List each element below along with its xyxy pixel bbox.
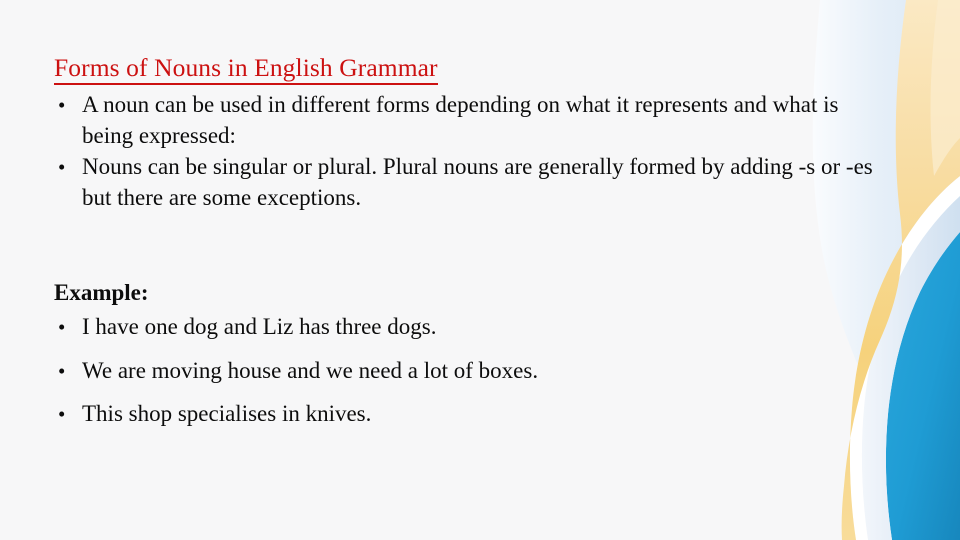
list-item: • A noun can be used in different forms … <box>52 90 882 151</box>
slide-content: Forms of Nouns in English Grammar • A no… <box>0 0 960 540</box>
page-title-text: Forms of Nouns in English Grammar <box>54 53 438 85</box>
list-item-text: A noun can be used in different forms de… <box>82 90 882 151</box>
list-item: • We are moving house and we need a lot … <box>52 356 882 387</box>
list-item: • This shop specialises in knives. <box>52 399 882 430</box>
bullet-dot-icon: • <box>58 399 72 430</box>
page-title: Forms of Nouns in English Grammar <box>54 53 754 83</box>
list-item: • I have one dog and Liz has three dogs. <box>52 312 882 343</box>
example-heading: Example: <box>54 279 149 307</box>
list-item-text: I have one dog and Liz has three dogs. <box>82 312 882 343</box>
forms-bullet-list: • A noun can be used in different forms … <box>52 90 882 214</box>
slide-canvas: Forms of Nouns in English Grammar • A no… <box>0 0 960 540</box>
bullet-dot-icon: • <box>58 152 72 183</box>
examples-bullet-list: • I have one dog and Liz has three dogs.… <box>52 312 882 443</box>
list-item: • Nouns can be singular or plural. Plura… <box>52 152 882 213</box>
list-item-text: This shop specialises in knives. <box>82 399 882 430</box>
bullet-dot-icon: • <box>58 90 72 121</box>
bullet-dot-icon: • <box>58 356 72 387</box>
list-item-text: We are moving house and we need a lot of… <box>82 356 882 387</box>
bullet-dot-icon: • <box>58 312 72 343</box>
list-item-text: Nouns can be singular or plural. Plural … <box>82 152 882 213</box>
